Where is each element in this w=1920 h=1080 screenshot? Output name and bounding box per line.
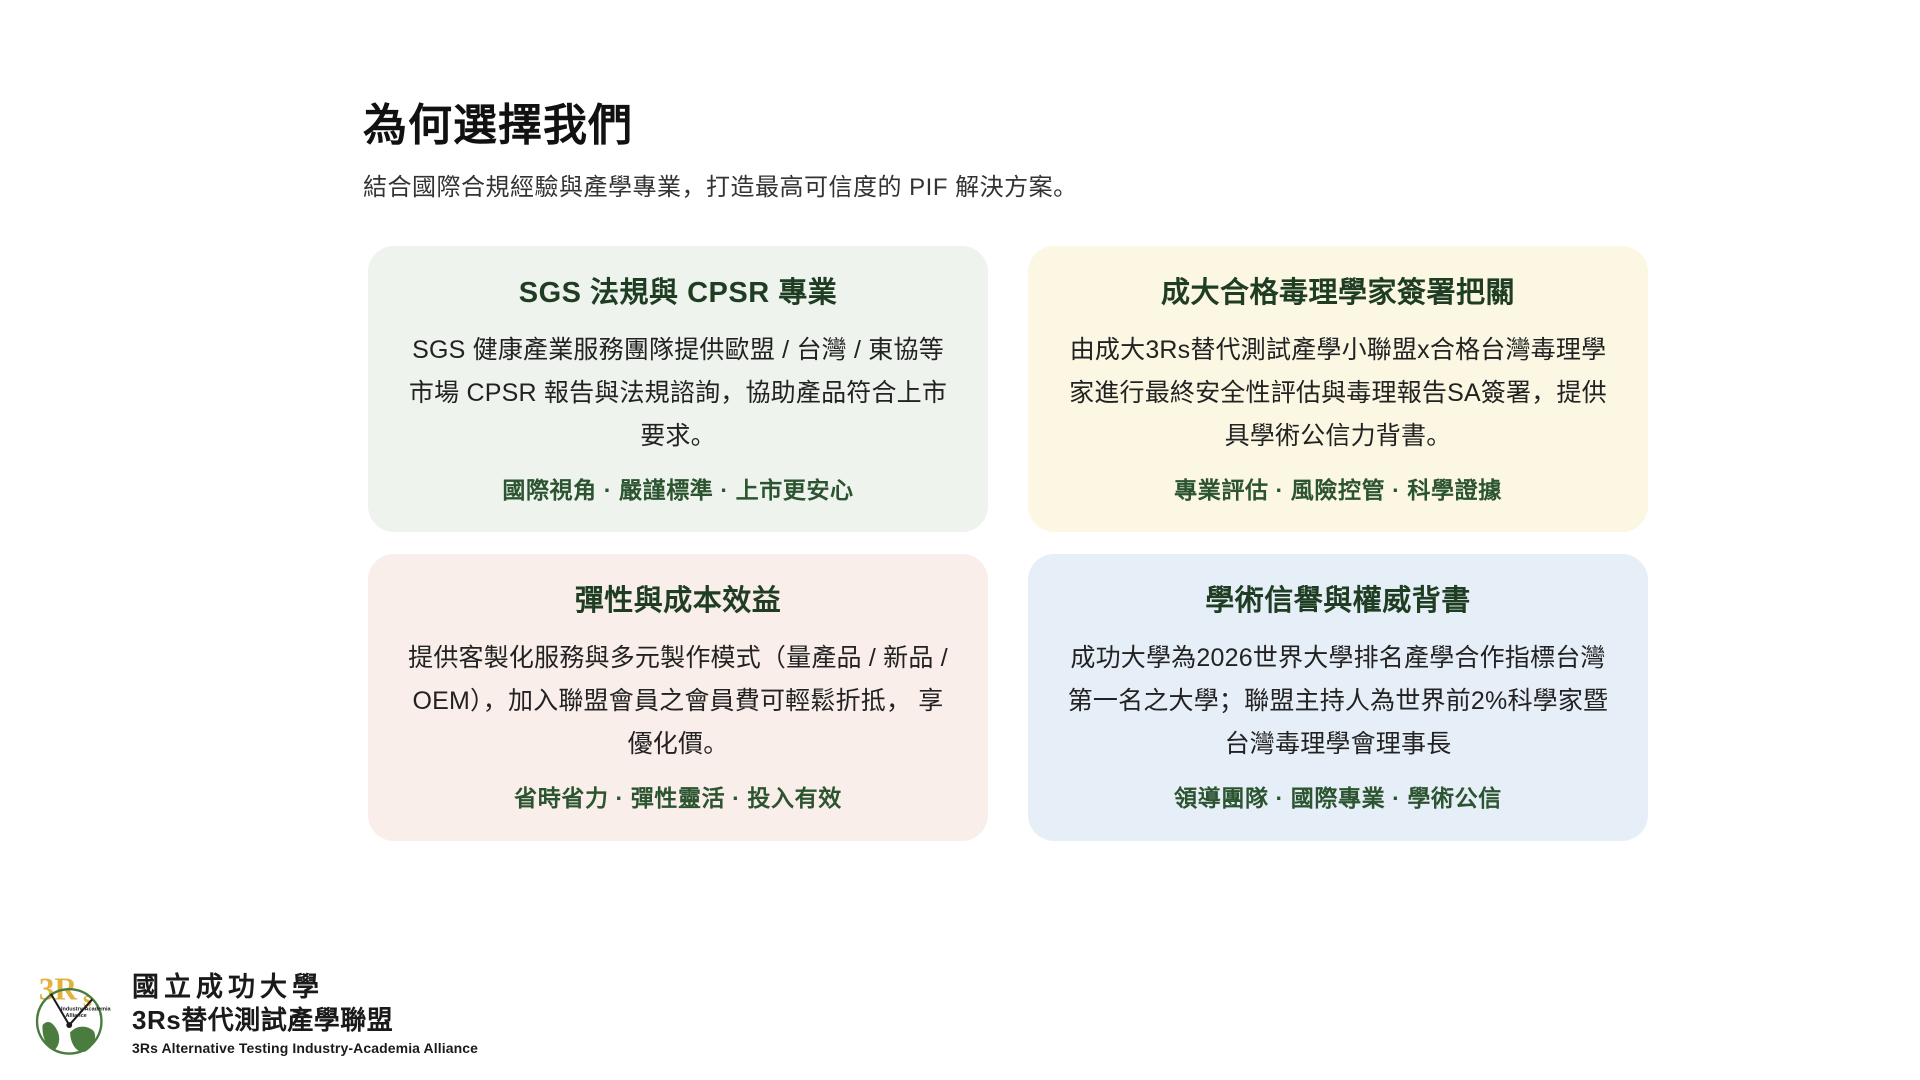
page-subtitle: 結合國際合規經驗與產學專業，打造最高可信度的 PIF 解決方案。 <box>363 171 1563 205</box>
svg-text:Alliance: Alliance <box>66 1013 87 1019</box>
card-body: SGS 健康產業服務團隊提供歐盟 / 台灣 / 東協等市場 CPSR 報告與法規… <box>406 329 950 458</box>
card-tagline: 省時省力 · 彈性靈活 · 投入有效 <box>406 782 950 814</box>
card-title: 彈性與成本效益 <box>406 582 950 621</box>
footer-org-name: 國立成功大學 <box>132 971 478 1004</box>
feature-card-sgs[interactable]: SGS 法規與 CPSR 專業 SGS 健康產業服務團隊提供歐盟 / 台灣 / … <box>368 246 988 532</box>
feature-card-academic-credibility[interactable]: 學術信譽與權威背書 成功大學為2026世界大學排名產學合作指標台灣第一名之大學；… <box>1028 554 1648 840</box>
footer-alliance-name-en: 3Rs Alternative Testing Industry-Academi… <box>132 1040 478 1057</box>
feature-card-grid: SGS 法規與 CPSR 專業 SGS 健康產業服務團隊提供歐盟 / 台灣 / … <box>368 246 1648 841</box>
footer-logo-text: 國立成功大學 3Rs替代測試產學聯盟 3Rs Alternative Testi… <box>132 971 478 1056</box>
card-body: 由成大3Rs替代測試產學小聯盟x合格台灣毒理學家進行最終安全性評估與毒理報告SA… <box>1066 329 1610 458</box>
footer-logo: 3R s Industry-Academia Alliance 國立成功大學 3… <box>26 968 478 1060</box>
slide-header: 為何選擇我們 結合國際合規經驗與產學專業，打造最高可信度的 PIF 解決方案。 <box>363 100 1563 204</box>
card-title: 學術信譽與權威背書 <box>1066 582 1610 621</box>
card-body: 提供客製化服務與多元製作模式（量產品 / 新品 / OEM），加入聯盟會員之會員… <box>406 637 950 766</box>
card-title: SGS 法規與 CPSR 專業 <box>406 274 950 313</box>
svg-text:Industry-Academia: Industry-Academia <box>61 1006 112 1012</box>
card-tagline: 國際視角 · 嚴謹標準 · 上市更安心 <box>406 474 950 506</box>
feature-card-flexibility[interactable]: 彈性與成本效益 提供客製化服務與多元製作模式（量產品 / 新品 / OEM），加… <box>368 554 988 840</box>
card-tagline: 領導團隊 · 國際專業 · 學術公信 <box>1066 782 1610 814</box>
feature-card-toxicologist[interactable]: 成大合格毒理學家簽署把關 由成大3Rs替代測試產學小聯盟x合格台灣毒理學家進行最… <box>1028 246 1648 532</box>
page-title: 為何選擇我們 <box>363 100 1563 153</box>
slide-root: 為何選擇我們 結合國際合規經驗與產學專業，打造最高可信度的 PIF 解決方案。 … <box>0 0 1920 1080</box>
footer-alliance-name-zh: 3Rs替代測試產學聯盟 <box>132 1004 478 1037</box>
3rs-globe-logo-icon: 3R s Industry-Academia Alliance <box>26 968 118 1060</box>
card-title: 成大合格毒理學家簽署把關 <box>1066 274 1610 313</box>
card-body: 成功大學為2026世界大學排名產學合作指標台灣第一名之大學；聯盟主持人為世界前2… <box>1066 637 1610 766</box>
card-tagline: 專業評估 · 風險控管 · 科學證據 <box>1066 474 1610 506</box>
